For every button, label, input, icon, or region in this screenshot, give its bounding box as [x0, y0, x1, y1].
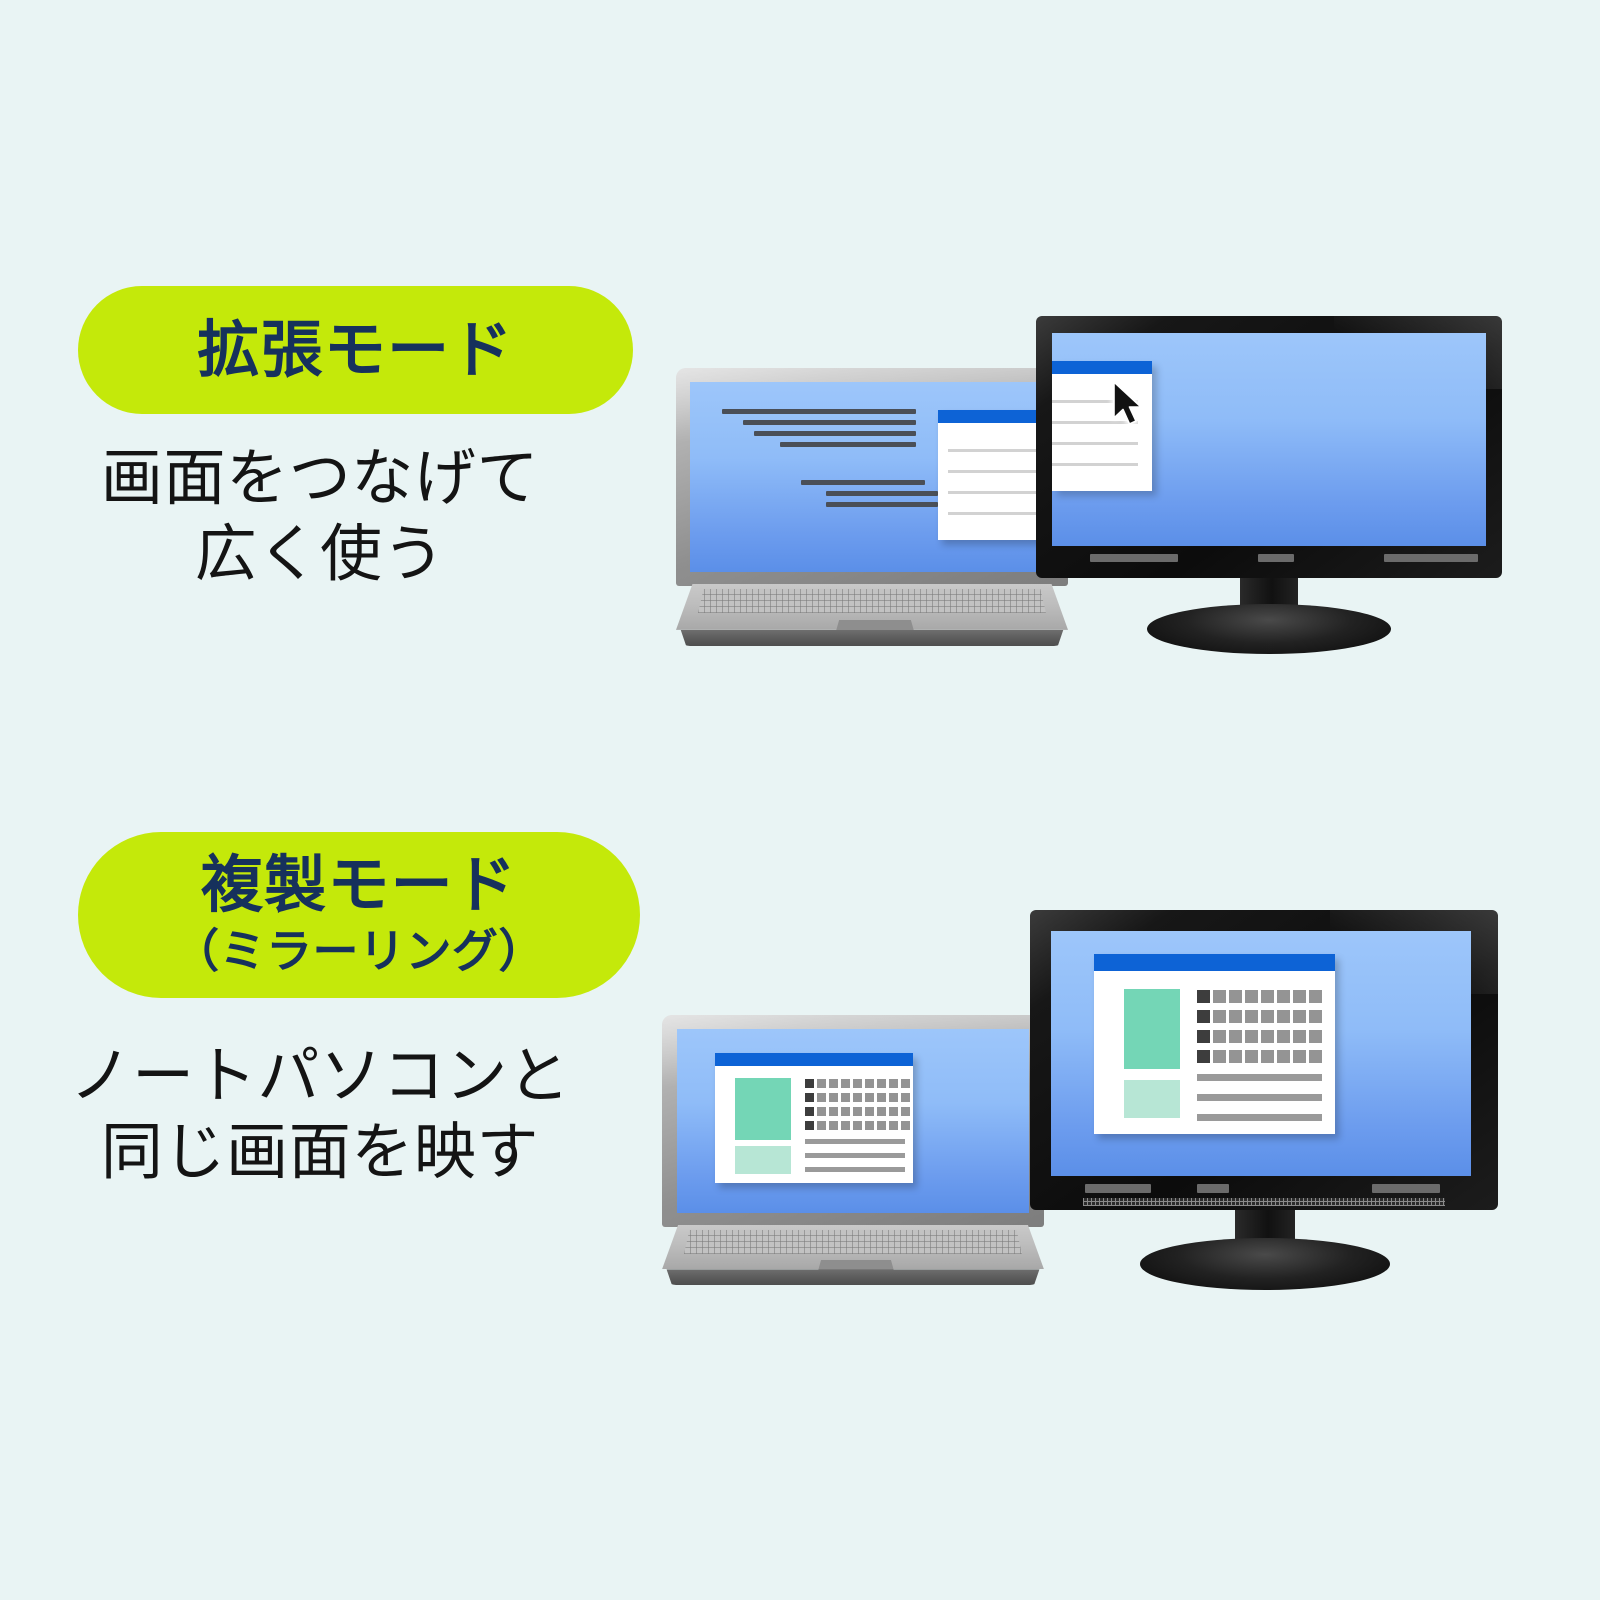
laptop-front-edge [676, 630, 1068, 646]
laptop-trackpad [818, 1260, 894, 1271]
monitor-stand-base [1140, 1238, 1390, 1290]
document-text-square [829, 1079, 838, 1088]
document-text-square [889, 1107, 898, 1116]
window-titlebar [1052, 361, 1152, 374]
duplicate-mode-text-block: 複製モード （ミラーリング） ノートパソコンと 同じ画面を映す [0, 832, 660, 1189]
duplicate-laptop [662, 1015, 1044, 1283]
document-text-square [841, 1107, 850, 1116]
document-text-square [877, 1079, 886, 1088]
document-text-bar [805, 1167, 905, 1172]
document-text-square [1245, 1010, 1258, 1023]
document-text-square [901, 1121, 910, 1130]
extended-laptop [676, 368, 1068, 644]
document-text-square [1277, 1050, 1290, 1063]
monitor-speaker-grille [1083, 1198, 1445, 1206]
desktop-text-line [801, 480, 925, 485]
mirrored-window [715, 1053, 913, 1183]
laptop-keyboard [684, 1230, 1022, 1254]
document-text-square [1309, 1050, 1322, 1063]
document-text-square [1261, 1030, 1274, 1043]
document-text-square [1197, 990, 1210, 1003]
document-image-primary [735, 1078, 791, 1140]
document-text-square [1293, 1050, 1306, 1063]
duplicate-laptop-base [662, 1225, 1044, 1285]
document-text-square [877, 1107, 886, 1116]
document-text-square [805, 1107, 814, 1116]
desktop-text-line [722, 409, 916, 414]
window-titlebar [1094, 954, 1335, 971]
duplicate-mode-caption-line1: ノートパソコンと [0, 1038, 640, 1114]
document-text-square [1245, 1050, 1258, 1063]
document-text-square [853, 1093, 862, 1102]
extended-mode-caption: 画面をつなげて 広く使う [0, 440, 640, 591]
document-text-square [1213, 1050, 1226, 1063]
document-text-square [1213, 1010, 1226, 1023]
document-text-square [1245, 990, 1258, 1003]
document-text-square [1309, 990, 1322, 1003]
laptop-trackpad [836, 620, 914, 631]
document-text-square [805, 1121, 814, 1130]
extended-laptop-screen [690, 382, 1054, 572]
extended-monitor-screen [1052, 333, 1486, 546]
document-text-square [1197, 1050, 1210, 1063]
document-text-square [865, 1093, 874, 1102]
monitor-button-center[interactable] [1197, 1184, 1229, 1193]
extended-laptop-base [676, 584, 1068, 646]
document-text-square [805, 1093, 814, 1102]
window-content-line [1052, 442, 1138, 445]
extended-mode-caption-line1: 画面をつなげて [0, 440, 640, 516]
document-text-square [1261, 990, 1274, 1003]
document-text-square [805, 1079, 814, 1088]
document-text-square [1277, 990, 1290, 1003]
document-text-square [817, 1093, 826, 1102]
desktop-text-line [780, 442, 916, 447]
document-text-square [1245, 1030, 1258, 1043]
window-content-line [1052, 463, 1138, 466]
document-text-square [877, 1093, 886, 1102]
document-text-square [841, 1121, 850, 1130]
duplicate-mode-badge-label: 複製モード [78, 848, 640, 922]
laptop-front-edge [662, 1269, 1044, 1285]
document-text-square [1261, 1010, 1274, 1023]
document-text-square [1293, 1030, 1306, 1043]
document-text-bar [1197, 1074, 1322, 1081]
document-text-square [889, 1079, 898, 1088]
document-text-square [1261, 1050, 1274, 1063]
document-text-square [889, 1121, 898, 1130]
document-text-square [1277, 1030, 1290, 1043]
document-text-square [901, 1079, 910, 1088]
document-text-square [865, 1107, 874, 1116]
document-text-bar [805, 1139, 905, 1144]
document-text-bar [805, 1153, 905, 1158]
document-text-square [841, 1079, 850, 1088]
document-text-square [1309, 1030, 1322, 1043]
extended-mode-badge: 拡張モード [78, 286, 633, 414]
extended-mode-badge-label: 拡張モード [78, 286, 633, 414]
desktop-text-line [754, 431, 916, 436]
desktop-text-line [826, 502, 938, 507]
duplicate-monitor-screen [1051, 931, 1471, 1176]
monitor-button-center[interactable] [1258, 554, 1294, 562]
document-text-square [877, 1121, 886, 1130]
document-text-square [1229, 990, 1242, 1003]
monitor-button-left[interactable] [1090, 554, 1178, 562]
document-text-square [1229, 1030, 1242, 1043]
document-text-bar [1197, 1114, 1322, 1121]
extended-mode-caption-line2: 広く使う [0, 516, 640, 592]
mirrored-window [1094, 954, 1335, 1134]
desktop-text-line [826, 491, 938, 496]
monitor-button-right[interactable] [1384, 554, 1478, 562]
laptop-keyboard [698, 589, 1046, 613]
document-text-square [1309, 1010, 1322, 1023]
document-text-square [1229, 1010, 1242, 1023]
document-text-square [829, 1121, 838, 1130]
document-text-square [1229, 1050, 1242, 1063]
document-text-square [817, 1107, 826, 1116]
window-titlebar [715, 1053, 913, 1066]
document-text-square [853, 1121, 862, 1130]
document-image-primary [1124, 989, 1180, 1069]
document-text-square [817, 1079, 826, 1088]
duplicate-mode-badge-sublabel: （ミラーリング） [78, 922, 640, 980]
document-text-square [1277, 1010, 1290, 1023]
document-text-square [1293, 990, 1306, 1003]
illustration-stage: 拡張モード 画面をつなげて 広く使う 複製モード （ミラーリング） ノートパソコ… [0, 0, 1600, 1600]
document-text-square [1293, 1010, 1306, 1023]
document-text-square [829, 1093, 838, 1102]
document-text-square [1197, 1030, 1210, 1043]
document-text-square [853, 1107, 862, 1116]
document-text-square [1213, 990, 1226, 1003]
extended-mode-text-block: 拡張モード 画面をつなげて 広く使う [0, 286, 660, 591]
document-image-secondary [735, 1146, 791, 1174]
desktop-text-line [743, 420, 916, 425]
document-text-square [865, 1079, 874, 1088]
duplicate-mode-badge: 複製モード （ミラーリング） [78, 832, 640, 998]
duplicate-mode-caption-line2: 同じ画面を映す [0, 1114, 640, 1190]
document-text-square [853, 1079, 862, 1088]
monitor-button-right[interactable] [1372, 1184, 1440, 1193]
duplicate-mode-caption: ノートパソコンと 同じ画面を映す [0, 1038, 640, 1189]
document-text-square [829, 1107, 838, 1116]
mouse-cursor-icon [1112, 381, 1146, 427]
document-text-square [817, 1121, 826, 1130]
extended-external-monitor [1036, 316, 1502, 654]
monitor-button-left[interactable] [1085, 1184, 1151, 1193]
document-text-square [901, 1107, 910, 1116]
document-text-square [901, 1093, 910, 1102]
duplicate-external-monitor [1030, 910, 1498, 1292]
document-text-square [1213, 1030, 1226, 1043]
document-text-square [1197, 1010, 1210, 1023]
document-image-secondary [1124, 1080, 1180, 1118]
document-text-bar [1197, 1094, 1322, 1101]
document-text-square [865, 1121, 874, 1130]
document-text-square [889, 1093, 898, 1102]
monitor-stand-base [1147, 604, 1391, 654]
document-text-square [841, 1093, 850, 1102]
duplicate-laptop-screen [677, 1029, 1029, 1213]
